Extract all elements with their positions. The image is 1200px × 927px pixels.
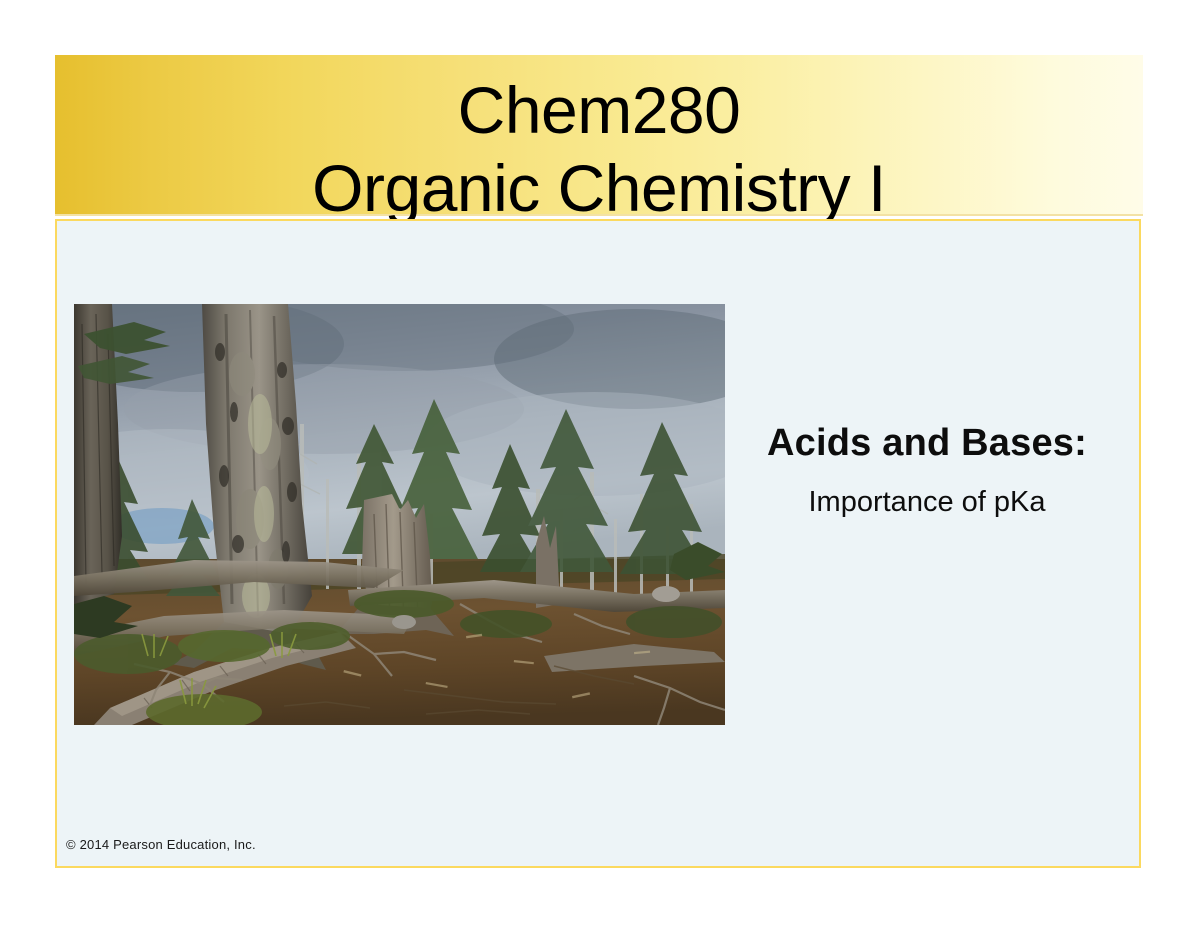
course-code-title: Chem280 <box>55 55 1143 143</box>
title-banner: Chem280 Organic Chemistry I <box>55 55 1143 216</box>
slide-content-panel: Acids and Bases: Importance of pKa © 201… <box>55 219 1141 868</box>
subject-text-block: Acids and Bases: Importance of pKa <box>717 421 1137 519</box>
forest-photograph <box>74 304 725 725</box>
subject-subheading: Importance of pKa <box>717 485 1137 520</box>
slide-canvas: Chem280 Organic Chemistry I <box>0 0 1200 927</box>
subject-heading: Acids and Bases: <box>717 421 1137 467</box>
course-name-title: Organic Chemistry I <box>55 143 1143 221</box>
forest-photograph-image <box>74 304 725 725</box>
copyright-credit: © 2014 Pearson Education, Inc. <box>66 837 256 852</box>
title-text-block: Chem280 Organic Chemistry I <box>55 55 1143 221</box>
